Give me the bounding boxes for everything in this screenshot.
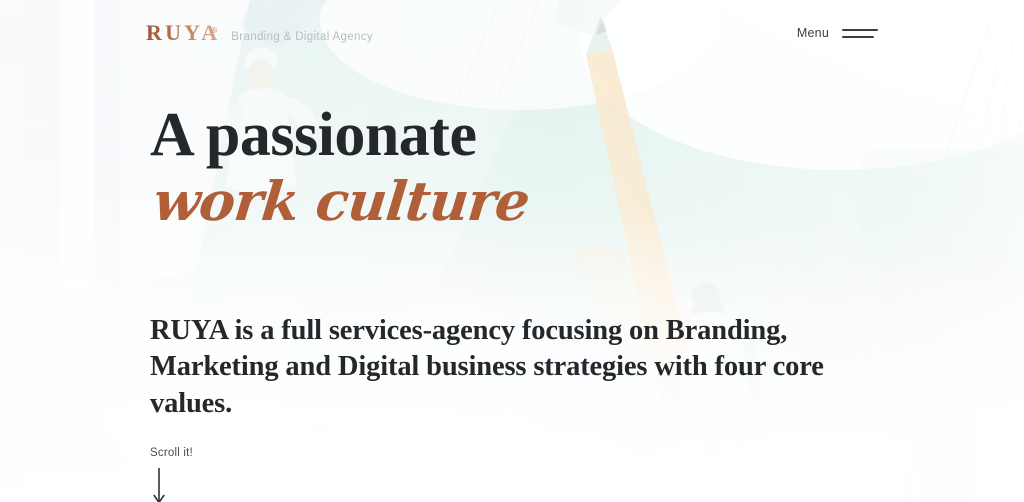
menu-button-label: Menu [797,26,829,40]
site-header: RUYA® Branding & Digital Agency Menu [0,0,1024,66]
logo[interactable]: RUYA® [146,22,217,45]
logo-wordmark: RUYA [146,20,220,45]
scroll-cue-label: Scroll it! [150,447,193,459]
hero-headline-script: work culture [151,172,532,230]
brand-lockup[interactable]: RUYA® Branding & Digital Agency [146,22,373,45]
hero-heading-block: A passionate work culture [150,104,529,230]
hamburger-line-2 [842,36,874,38]
hamburger-icon[interactable] [842,29,878,38]
menu-button[interactable]: Menu [797,26,988,40]
hero-page: RUYA® Branding & Digital Agency Menu A p… [0,0,1024,502]
hero-lead-paragraph: RUYA is a full services-agency focusing … [150,313,862,422]
brand-tagline: Branding & Digital Agency [231,31,373,43]
hamburger-line-1 [842,29,878,31]
hero-background-illustration [0,0,1024,502]
scroll-cue[interactable]: Scroll it! [150,447,193,502]
background-shapes [0,0,1024,502]
registered-trademark-icon: ® [211,26,217,35]
arrow-down-icon[interactable] [152,468,166,502]
hero-headline-primary: A passionate [150,104,529,166]
